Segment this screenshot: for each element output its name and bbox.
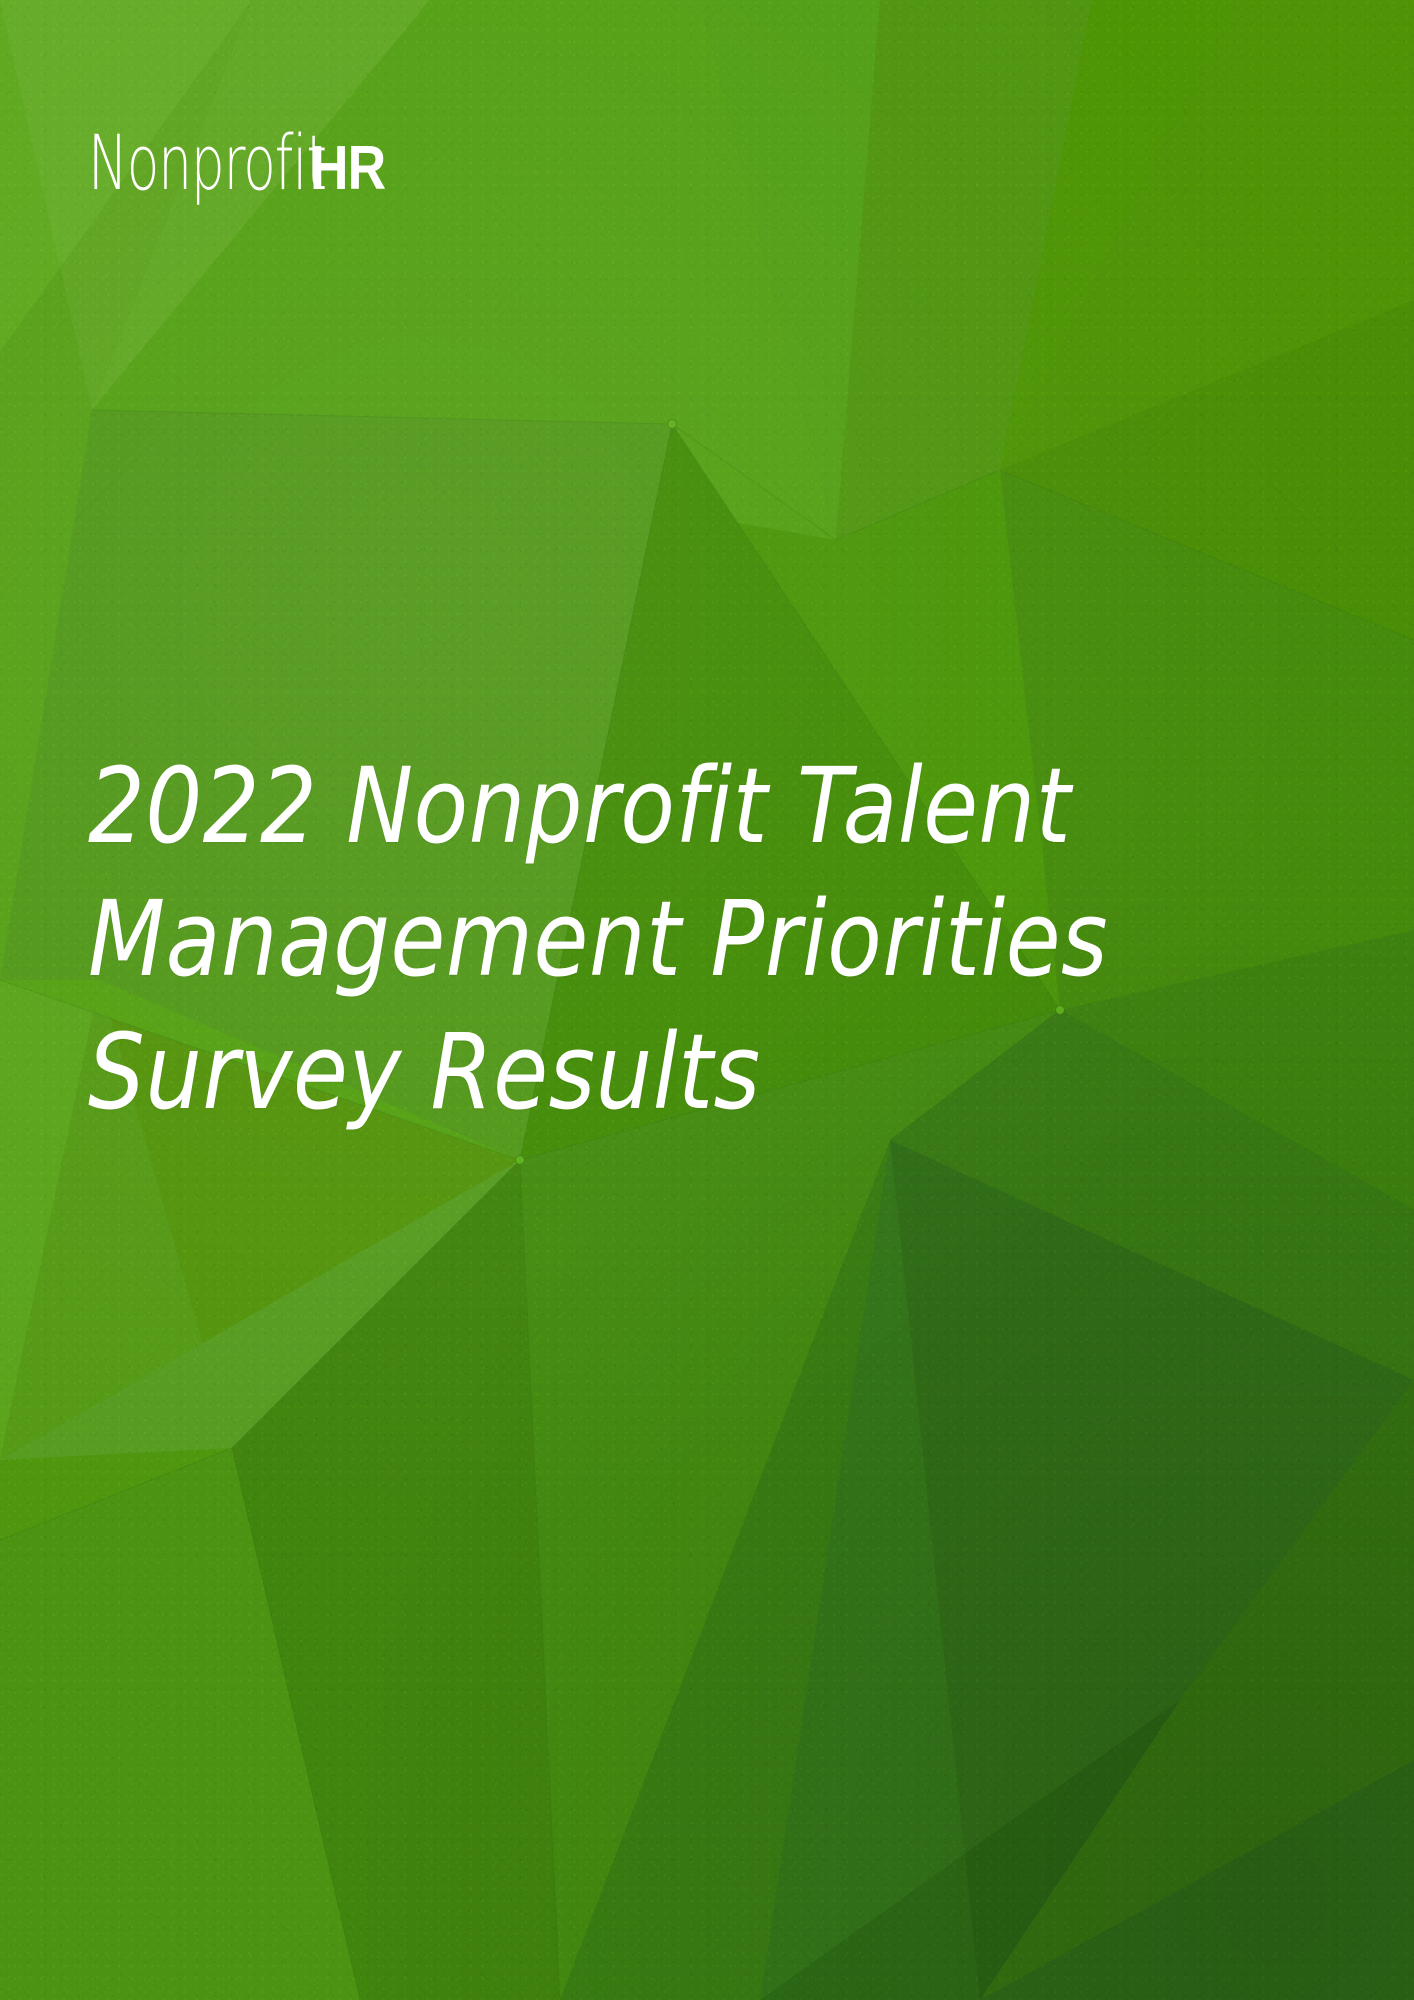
- logo-wordmark: Nonprofit: [88, 128, 326, 198]
- title-line-2: Management Priorities: [88, 873, 1103, 1006]
- title-line-3: Survey Results: [88, 1006, 1103, 1139]
- nonprofit-hr-logo: Nonprofit HR: [88, 128, 398, 198]
- logo-hr-mark: HR: [310, 140, 385, 197]
- report-cover-page: Nonprofit HR 2022 Nonprofit Talent Manag…: [0, 0, 1414, 2000]
- cover-title: 2022 Nonprofit Talent Management Priorit…: [88, 740, 1268, 1139]
- title-line-1: 2022 Nonprofit Talent: [88, 740, 1103, 873]
